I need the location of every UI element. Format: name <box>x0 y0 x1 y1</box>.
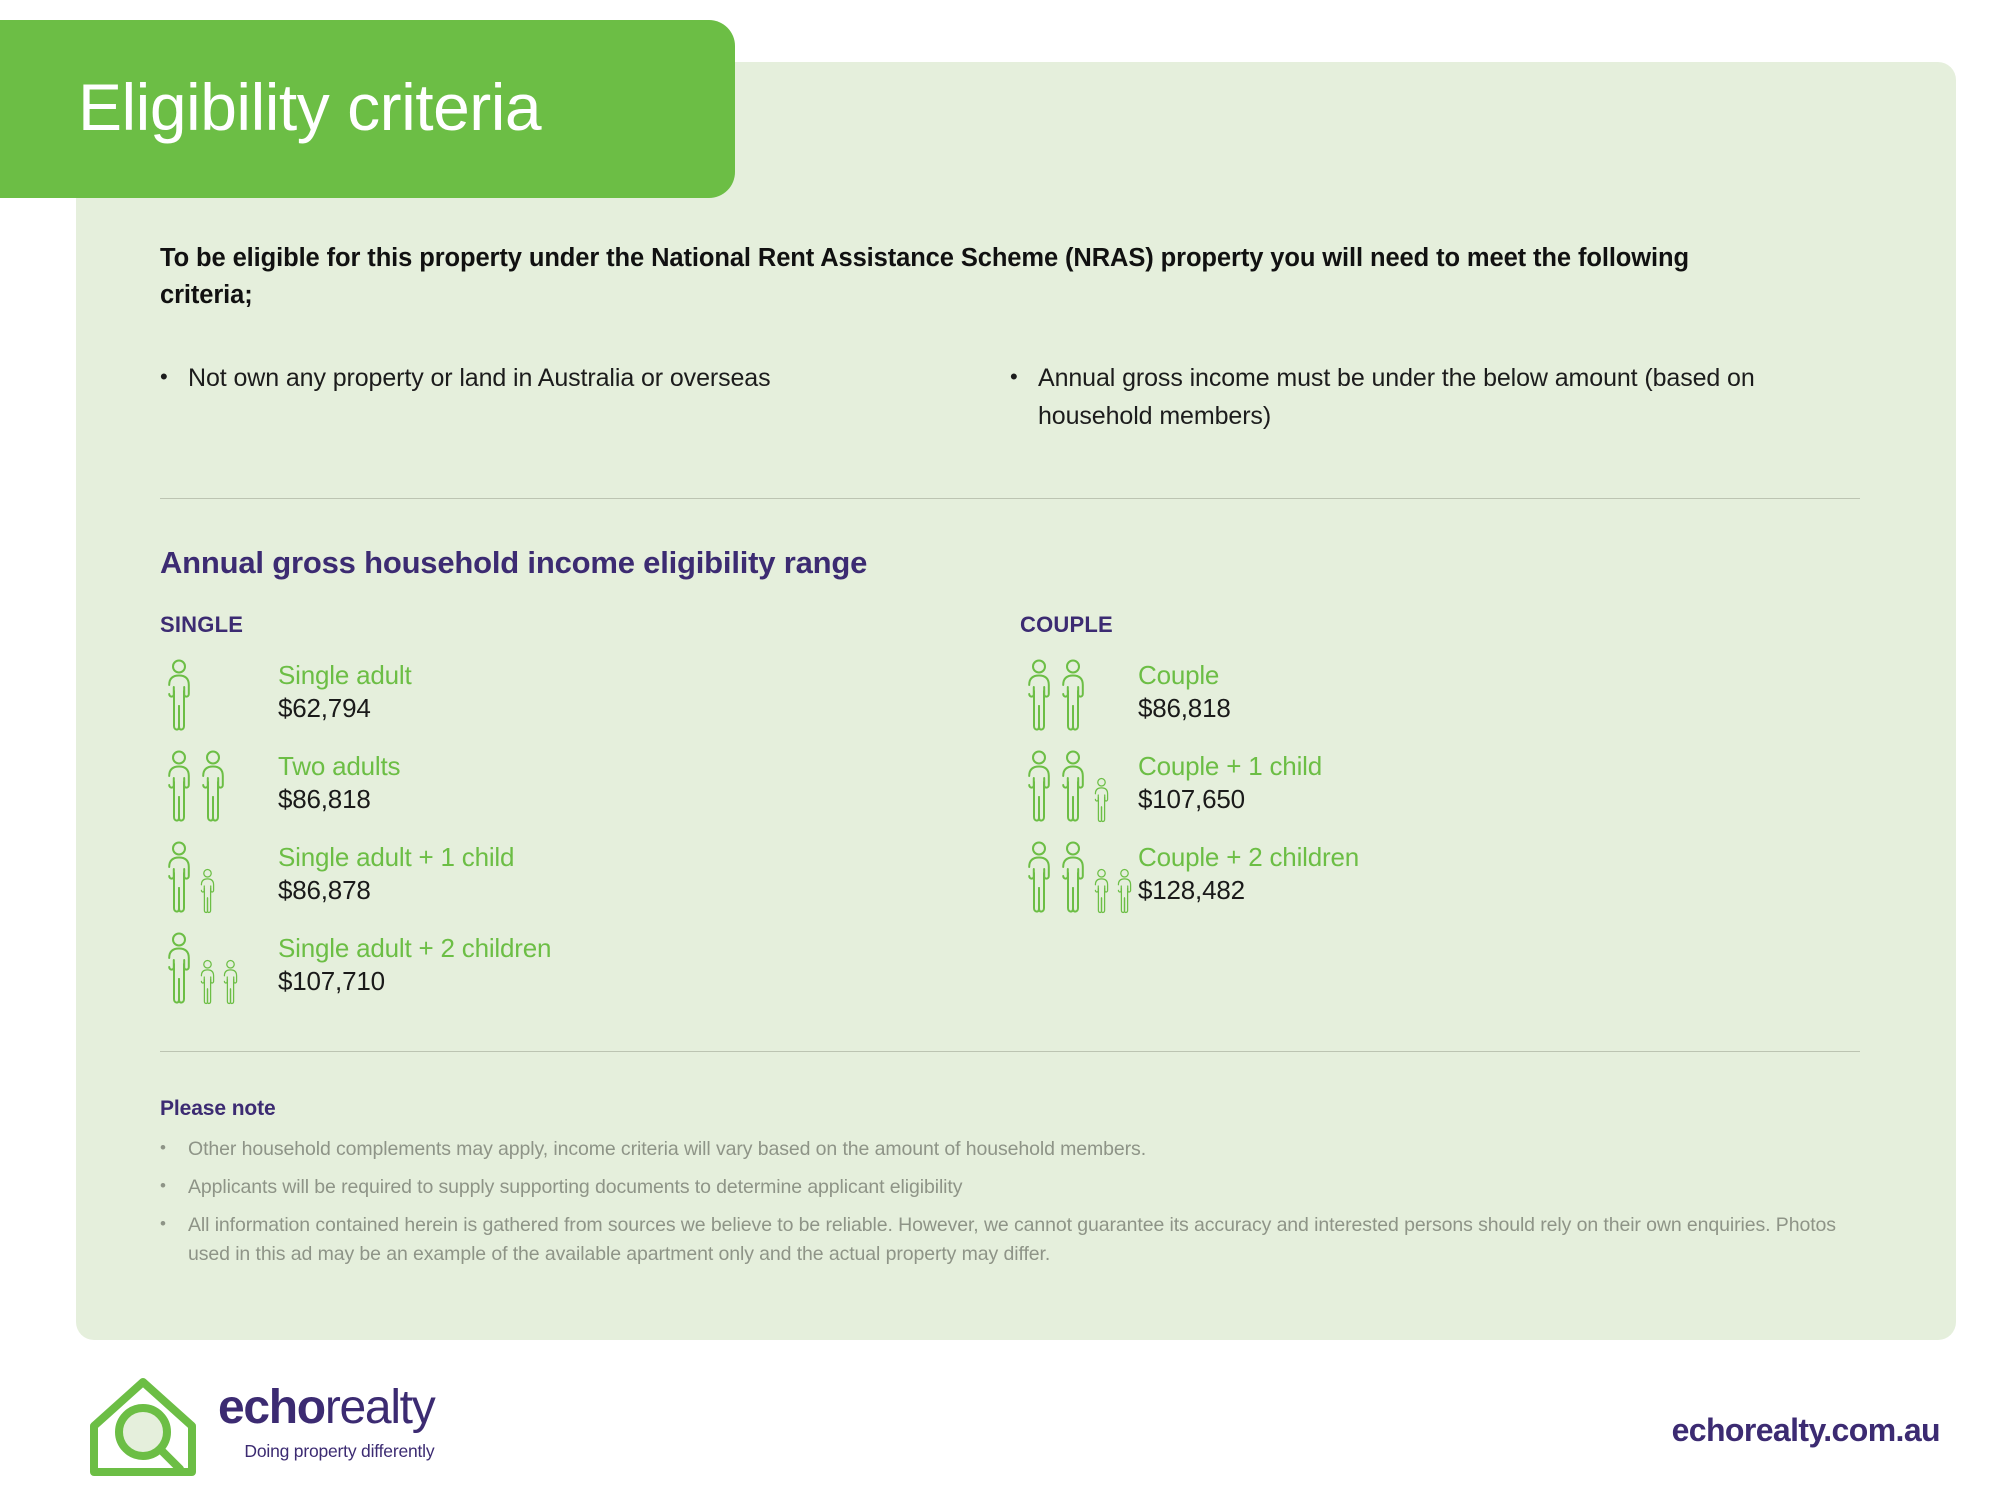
income-row-text: Couple + 2 children$128,482 <box>1138 840 1359 908</box>
income-amount: $86,818 <box>1138 692 1231 726</box>
person-icon <box>1058 658 1088 732</box>
household-icons <box>1020 749 1138 823</box>
person-icon <box>198 959 217 1005</box>
criteria-bullet-item: • Annual gross income must be under the … <box>1010 360 1860 435</box>
note-text: Other household complements may apply, i… <box>188 1135 1860 1164</box>
person-icon <box>164 931 194 1005</box>
please-note-heading: Please note <box>160 1097 276 1121</box>
section-heading: Annual gross household income eligibilit… <box>160 545 867 581</box>
income-amount: $128,482 <box>1138 874 1359 908</box>
page-title: Eligibility criteria <box>0 74 541 140</box>
person-icon <box>164 658 194 732</box>
couple-rows: Couple$86,818Couple + 1 child$107,650Cou… <box>1020 658 1880 931</box>
income-table: SINGLE Single adult$62,794Two adults$86,… <box>160 612 1880 1022</box>
logo-wordmark: echorealty Doing property differently <box>218 1372 434 1462</box>
intro-paragraph: To be eligible for this property under t… <box>160 240 1780 314</box>
column-label-couple: COUPLE <box>1020 612 1880 638</box>
income-row: Single adult + 2 children$107,710 <box>160 931 1020 1022</box>
household-type-label: Single adult + 2 children <box>278 933 551 965</box>
bullet-dot-icon: • <box>160 1173 188 1202</box>
income-column-single: SINGLE Single adult$62,794Two adults$86,… <box>160 612 1020 1022</box>
divider-top <box>160 498 1860 499</box>
income-amount: $86,878 <box>278 874 514 908</box>
person-icon <box>198 749 228 823</box>
person-icon <box>1024 658 1054 732</box>
bullet-dot-icon: • <box>160 1211 188 1269</box>
logo-name-light: realty <box>325 1381 435 1434</box>
household-icons <box>160 931 278 1005</box>
income-row-text: Single adult$62,794 <box>278 658 411 726</box>
income-amount: $107,650 <box>1138 783 1322 817</box>
criteria-bullet-item: • Not own any property or land in Austra… <box>160 360 1010 398</box>
bullet-dot-icon: • <box>1010 360 1038 435</box>
criteria-bullet-text: Not own any property or land in Australi… <box>188 360 1010 398</box>
divider-bottom <box>160 1051 1860 1052</box>
footer-website-url[interactable]: echorealty.com.au <box>1672 1412 1940 1449</box>
person-icon <box>1058 749 1088 823</box>
house-search-logo-icon <box>84 1374 202 1487</box>
income-row: Two adults$86,818 <box>160 749 1020 840</box>
income-column-couple: COUPLE Couple$86,818Couple + 1 child$107… <box>1020 612 1880 1022</box>
note-list-item: •Applicants will be required to supply s… <box>160 1173 1860 1202</box>
household-icons <box>1020 840 1138 914</box>
household-type-label: Single adult <box>278 660 411 692</box>
person-icon <box>164 840 194 914</box>
income-row-text: Single adult + 1 child$86,878 <box>278 840 514 908</box>
income-row-text: Two adults$86,818 <box>278 749 400 817</box>
person-icon <box>1115 868 1134 914</box>
intro-text-before: To be eligible for this property under t… <box>160 244 651 272</box>
household-icons <box>160 749 278 823</box>
income-amount: $107,710 <box>278 965 551 999</box>
income-row: Couple$86,818 <box>1020 658 1880 749</box>
household-icons <box>160 840 278 914</box>
household-icons <box>1020 658 1138 732</box>
criteria-column-left: • Not own any property or land in Austra… <box>160 360 1010 435</box>
person-icon <box>1024 749 1054 823</box>
person-icon <box>164 749 194 823</box>
criteria-column-right: • Annual gross income must be under the … <box>1010 360 1860 435</box>
person-icon <box>221 959 240 1005</box>
income-row: Single adult$62,794 <box>160 658 1020 749</box>
note-list-item: •Other household complements may apply, … <box>160 1135 1860 1164</box>
person-icon <box>1024 840 1054 914</box>
household-type-label: Couple <box>1138 660 1231 692</box>
note-list-item: •All information contained herein is gat… <box>160 1211 1860 1269</box>
income-row: Single adult + 1 child$86,878 <box>160 840 1020 931</box>
household-type-label: Couple + 2 children <box>1138 842 1359 874</box>
intro-scheme-name: National Rent Assistance Scheme (NRAS) <box>651 244 1154 272</box>
eligibility-criteria-flyer: Eligibility criteria To be eligible for … <box>0 0 2000 1500</box>
footer-logo[interactable]: echorealty Doing property differently <box>84 1372 434 1487</box>
header-tab: Eligibility criteria <box>0 20 735 198</box>
please-note-list: •Other household complements may apply, … <box>160 1135 1860 1277</box>
income-amount: $62,794 <box>278 692 411 726</box>
logo-name: echorealty <box>218 1384 434 1432</box>
household-type-label: Two adults <box>278 751 400 783</box>
income-row: Couple + 2 children$128,482 <box>1020 840 1880 931</box>
household-type-label: Single adult + 1 child <box>278 842 514 874</box>
income-row-text: Single adult + 2 children$107,710 <box>278 931 551 999</box>
criteria-bullets: • Not own any property or land in Austra… <box>160 360 1860 435</box>
bullet-dot-icon: • <box>160 360 188 398</box>
note-text: All information contained herein is gath… <box>188 1211 1860 1269</box>
person-icon <box>1092 868 1111 914</box>
logo-name-bold: echo <box>218 1381 325 1434</box>
income-row-text: Couple$86,818 <box>1138 658 1231 726</box>
person-icon <box>1092 777 1111 823</box>
criteria-bullet-text: Annual gross income must be under the be… <box>1038 360 1860 435</box>
bullet-dot-icon: • <box>160 1135 188 1164</box>
person-icon <box>1058 840 1088 914</box>
note-text: Applicants will be required to supply su… <box>188 1173 1860 1202</box>
household-type-label: Couple + 1 child <box>1138 751 1322 783</box>
logo-tagline: Doing property differently <box>218 1441 434 1462</box>
household-icons <box>160 658 278 732</box>
column-label-single: SINGLE <box>160 612 1020 638</box>
person-icon <box>198 868 217 914</box>
income-amount: $86,818 <box>278 783 400 817</box>
income-row: Couple + 1 child$107,650 <box>1020 749 1880 840</box>
single-rows: Single adult$62,794Two adults$86,818Sing… <box>160 658 1020 1022</box>
income-row-text: Couple + 1 child$107,650 <box>1138 749 1322 817</box>
